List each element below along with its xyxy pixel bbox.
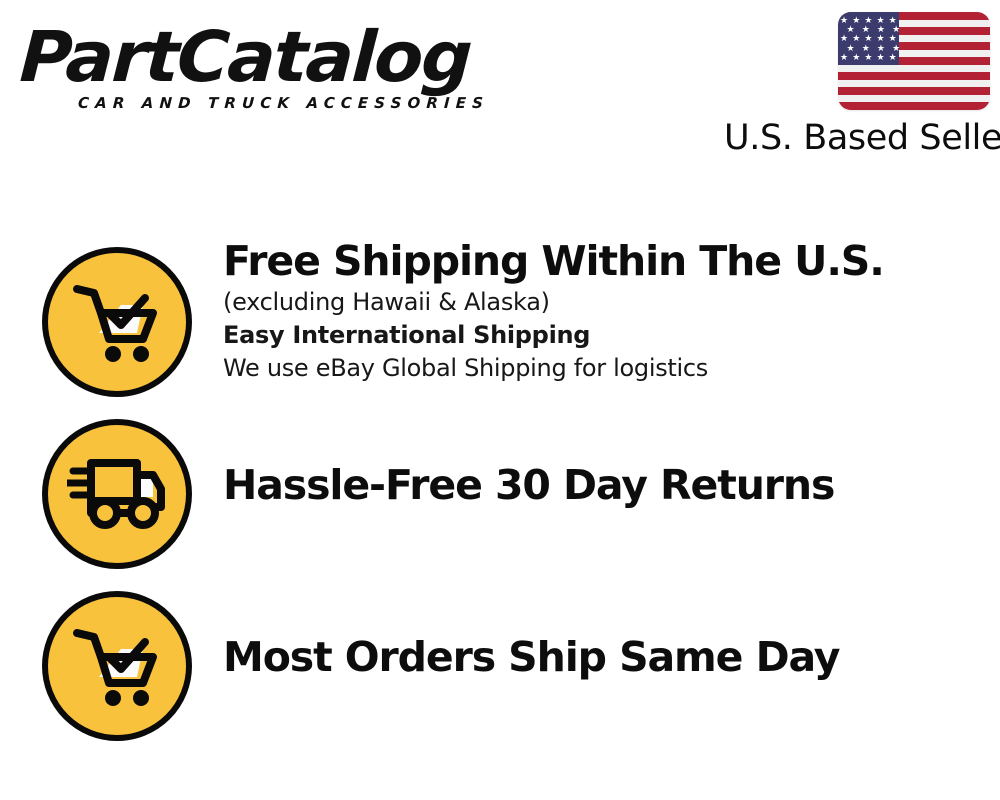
flag-stripe — [838, 102, 990, 110]
delivery-truck-icon — [42, 419, 192, 569]
brand-tagline: CAR AND TRUCK ACCESSORIES — [78, 96, 490, 111]
feature-heading: Free Shipping Within The U.S. — [223, 236, 983, 286]
feature-row: Hassle-Free 30 Day Returns — [0, 410, 1000, 582]
us-based-seller-label: U.S. Based Seller — [724, 118, 992, 158]
flag-star-row: ★★★★ — [838, 44, 909, 53]
flag-stripe — [838, 72, 990, 80]
feature-sub-international: Easy International Shipping — [223, 319, 983, 352]
brand-logo: PartCatalog CAR AND TRUCK ACCESSORIES — [22, 22, 492, 117]
flag-graphic: ★★★★★ ★★★★ ★★★★★ ★★★★ ★★★★★ — [838, 12, 990, 110]
feature-text: Hassle-Free 30 Day Returns — [223, 460, 983, 510]
flag-star-row: ★★★★ — [838, 25, 909, 34]
us-flag-icon: ★★★★★ ★★★★ ★★★★★ ★★★★ ★★★★★ — [838, 12, 990, 110]
feature-sub-logistics: We use eBay Global Shipping for logistic… — [223, 352, 983, 385]
feature-sub-exclusion: (excluding Hawaii & Alaska) — [223, 286, 983, 319]
flag-star-row: ★★★★★ — [838, 53, 899, 62]
header: PartCatalog CAR AND TRUCK ACCESSORIES ★★… — [0, 0, 1000, 170]
shopping-cart-check-icon — [42, 591, 192, 741]
feature-row: Most Orders Ship Same Day — [0, 582, 1000, 754]
feature-heading: Hassle-Free 30 Day Returns — [223, 460, 983, 510]
feature-text: Free Shipping Within The U.S. (excluding… — [223, 238, 983, 385]
shopping-cart-check-icon — [42, 247, 192, 397]
feature-list: Free Shipping Within The U.S. (excluding… — [0, 238, 1000, 754]
brand-name: PartCatalog — [18, 22, 501, 92]
feature-heading: Most Orders Ship Same Day — [223, 632, 983, 682]
feature-row: Free Shipping Within The U.S. (excluding… — [0, 238, 1000, 410]
feature-text: Most Orders Ship Same Day — [223, 632, 983, 682]
flag-stripe — [838, 87, 990, 95]
